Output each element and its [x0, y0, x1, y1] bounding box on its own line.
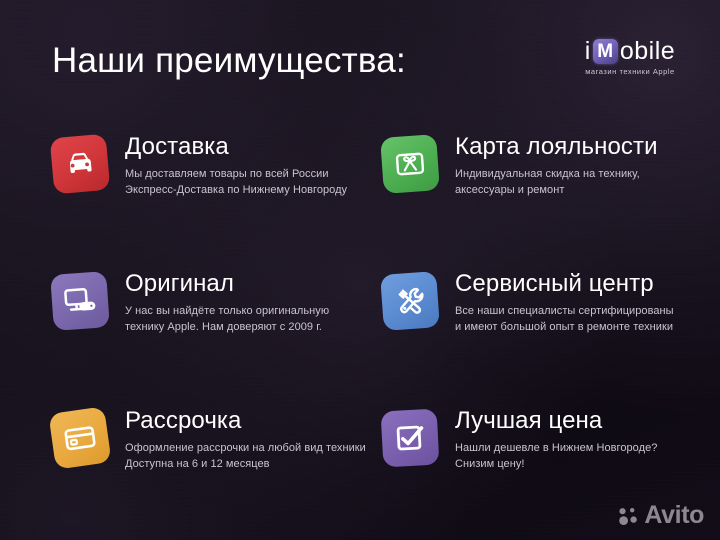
- feature-title: Оригинал: [125, 269, 329, 298]
- feature-desc-line-2: аксессуары и ремонт: [455, 183, 658, 199]
- brand-wordmark: i M obile: [570, 38, 690, 65]
- feature-description: У нас вы найдёте только оригинальную тех…: [125, 304, 329, 335]
- feature-description: Мы доставляем товары по всей России Эксп…: [125, 167, 347, 198]
- feature-body: Доставка Мы доставляем товары по всей Ро…: [125, 132, 347, 198]
- car-icon: [50, 134, 111, 195]
- feature-desc-line-1: Мы доставляем товары по всей России: [125, 167, 347, 183]
- feature-desc-line-1: У нас вы найдёте только оригинальную: [125, 304, 329, 320]
- feature-description: Нашли дешевле в Нижнем Новгороде? Снизим…: [455, 441, 657, 472]
- feature-body: Оригинал У нас вы найдёте только оригина…: [125, 269, 329, 335]
- feature-desc-line-1: Оформление рассрочки на любой вид техник…: [125, 441, 366, 457]
- gift-card-icon: [380, 134, 440, 194]
- feature-desc-line-1: Нашли дешевле в Нижнем Новгороде?: [455, 441, 657, 457]
- feature-description: Индивидуальная скидка на технику, аксесс…: [455, 167, 658, 198]
- avito-label: Avito: [644, 503, 704, 528]
- checkbox-check-icon: [381, 409, 440, 468]
- avito-watermark: Avito: [617, 503, 704, 528]
- feature-desc-line-2: Экспресс-Доставка по Нижнему Новгороду: [125, 183, 347, 199]
- feature-desc-line-2: технику Apple. Нам доверяют с 2009 г.: [125, 320, 329, 336]
- page-title: Наши преимущества:: [52, 40, 406, 82]
- feature-loyalty-card: Карта лояльности Индивидуальная скидка н…: [382, 132, 688, 269]
- feature-installment: Рассрочка Оформление рассрочки на любой …: [52, 406, 382, 508]
- wrench-screwdriver-icon: [380, 271, 440, 331]
- feature-desc-line-2: Снизим цену!: [455, 457, 657, 473]
- avito-dots-icon: [617, 505, 639, 527]
- feature-body: Рассрочка Оформление рассрочки на любой …: [125, 406, 366, 472]
- features-grid: Доставка Мы доставляем товары по всей Ро…: [52, 132, 688, 508]
- feature-body: Сервисный центр Все наши специалисты сер…: [455, 269, 674, 335]
- brand-tagline: магазин техники Apple: [570, 67, 690, 77]
- brand-badge-m: M: [593, 39, 618, 64]
- feature-desc-line-1: Индивидуальная скидка на технику,: [455, 167, 658, 183]
- feature-delivery: Доставка Мы доставляем товары по всей Ро…: [52, 132, 382, 269]
- feature-description: Все наши специалисты сертифицированы и и…: [455, 304, 674, 335]
- feature-best-price: Лучшая цена Нашли дешевле в Нижнем Новго…: [382, 406, 688, 508]
- monitor-icon: [50, 271, 110, 331]
- feature-title: Рассрочка: [125, 406, 366, 435]
- feature-description: Оформление рассрочки на любой вид техник…: [125, 441, 366, 472]
- feature-service-center: Сервисный центр Все наши специалисты сер…: [382, 269, 688, 406]
- credit-card-icon: [48, 406, 111, 469]
- feature-original: Оригинал У нас вы найдёте только оригина…: [52, 269, 382, 406]
- feature-title: Карта лояльности: [455, 132, 658, 161]
- feature-title: Лучшая цена: [455, 406, 657, 435]
- feature-desc-line-2: и имеют большой опыт в ремонте техники: [455, 320, 674, 336]
- brand-logo: i M obile магазин техники Apple: [570, 38, 690, 77]
- promo-slide: Наши преимущества: i M obile магазин тех…: [0, 0, 720, 540]
- brand-suffix: obile: [620, 38, 675, 65]
- feature-title: Сервисный центр: [455, 269, 674, 298]
- feature-desc-line-1: Все наши специалисты сертифицированы: [455, 304, 674, 320]
- brand-prefix: i: [585, 38, 591, 65]
- feature-body: Карта лояльности Индивидуальная скидка н…: [455, 132, 658, 198]
- feature-body: Лучшая цена Нашли дешевле в Нижнем Новго…: [455, 406, 657, 472]
- feature-title: Доставка: [125, 132, 347, 161]
- feature-desc-line-2: Доступна на 6 и 12 месяцев: [125, 457, 366, 473]
